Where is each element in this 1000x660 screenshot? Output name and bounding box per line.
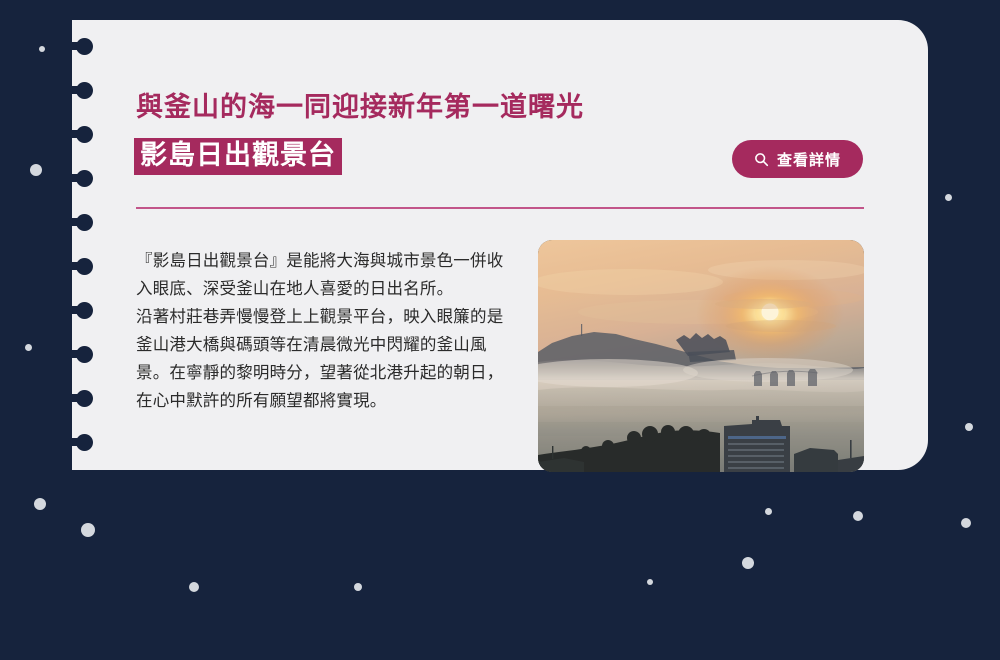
background-star bbox=[354, 583, 362, 591]
headline-row: 與釜山的海一同迎接新年第一道曙光 影島日出觀景台 查看詳情 bbox=[136, 70, 864, 188]
description-paragraph: 『影島日出觀景台』是能將大海與城市景色一併收入眼底、深受釜山在地人喜愛的日出名所… bbox=[136, 247, 528, 415]
search-icon bbox=[754, 152, 769, 167]
page-title-highlight: 影島日出觀景台 bbox=[134, 138, 342, 175]
background-star bbox=[945, 194, 952, 201]
page-background: 與釜山的海一同迎接新年第一道曙光 影島日出觀景台 查看詳情 『影島日出觀景台』是 bbox=[0, 0, 1000, 660]
background-star bbox=[765, 508, 772, 515]
body-row: 『影島日出觀景台』是能將大海與城市景色一併收入眼底、深受釜山在地人喜愛的日出名所… bbox=[136, 240, 864, 472]
view-details-button-label: 查看詳情 bbox=[777, 149, 841, 170]
info-card: 與釜山的海一同迎接新年第一道曙光 影島日出觀景台 查看詳情 『影島日出觀景台』是 bbox=[72, 20, 928, 470]
background-star bbox=[853, 511, 863, 521]
view-details-button[interactable]: 查看詳情 bbox=[732, 140, 863, 178]
background-star bbox=[30, 164, 42, 176]
background-star bbox=[965, 423, 973, 431]
sunrise-photo-illustration bbox=[538, 240, 864, 472]
section-divider bbox=[136, 207, 864, 209]
background-star bbox=[647, 579, 653, 585]
background-star bbox=[961, 518, 971, 528]
card-content: 與釜山的海一同迎接新年第一道曙光 影島日出觀景台 查看詳情 『影島日出觀景台』是 bbox=[136, 70, 864, 470]
background-star bbox=[81, 523, 95, 537]
background-star bbox=[25, 344, 32, 351]
description-text-block: 『影島日出觀景台』是能將大海與城市景色一併收入眼底、深受釜山在地人喜愛的日出名所… bbox=[136, 240, 528, 415]
sunrise-photo bbox=[538, 240, 864, 472]
background-star bbox=[742, 557, 754, 569]
page-title-line-1: 與釜山的海一同迎接新年第一道曙光 bbox=[136, 94, 584, 121]
background-star bbox=[189, 582, 199, 592]
background-star bbox=[34, 498, 46, 510]
background-star bbox=[39, 46, 45, 52]
